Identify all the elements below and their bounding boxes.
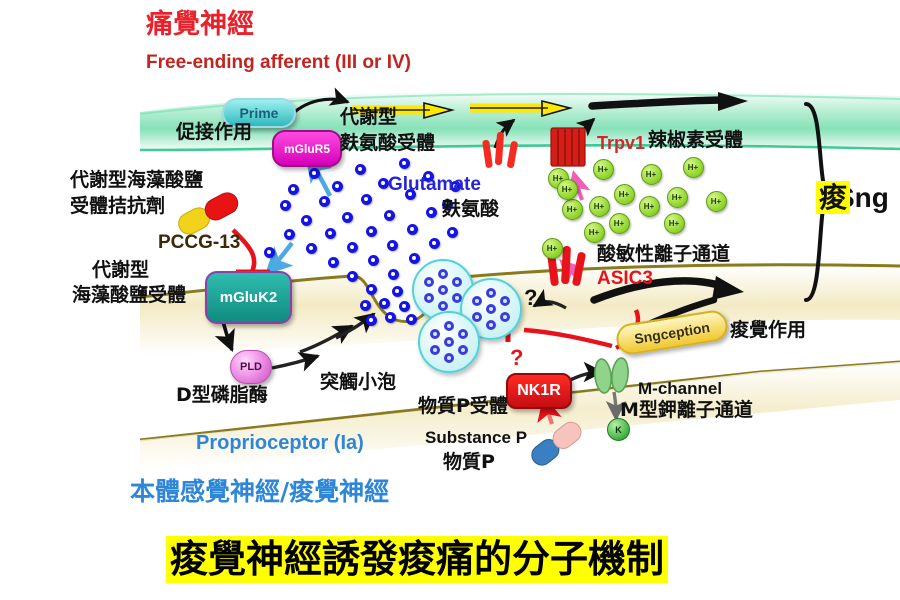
sngception-cjk-label: 痠覺作用	[730, 320, 806, 341]
vesicle-glutamate-dot	[444, 353, 454, 363]
vesicle-glutamate-dot	[430, 345, 440, 355]
glutamate-dot	[399, 301, 410, 312]
mgluk2-label: mGluK2	[220, 289, 278, 306]
vesicle-glutamate-dot	[472, 312, 482, 322]
synaptic-vesicle	[418, 311, 480, 373]
glutamate-dot	[332, 181, 343, 192]
upper-ion-channel-glyph	[482, 132, 518, 169]
hydrogen-ion: H+	[584, 222, 605, 243]
glutamate-dot	[280, 200, 291, 211]
vesicle-glutamate-dot	[452, 277, 462, 287]
hydrogen-ion-label: H+	[547, 244, 557, 253]
glutamate-dot	[429, 238, 440, 249]
vesicle-glutamate-dot	[486, 304, 496, 314]
m-channel-glyph	[593, 357, 629, 393]
sngception-inhibition	[508, 318, 612, 346]
hydrogen-ion-label: H+	[644, 202, 654, 211]
substance-p-capsule-glyph	[528, 418, 585, 469]
sng-cjk-label: 痠	[816, 181, 850, 214]
pccg13-capsule-glyph	[175, 189, 241, 238]
proprioceptor-cjk-label: 本體感覺神經/痠覺神經	[130, 478, 389, 506]
glutamate-dot	[387, 240, 398, 251]
glutamate-dot	[361, 194, 372, 205]
hydrogen-ion-label: H+	[619, 190, 629, 199]
potassium-ion-label: K	[615, 425, 622, 435]
glutamate-dot	[328, 257, 339, 268]
vesicle-glutamate-dot	[458, 329, 468, 339]
prime-cjk-label: 促接作用	[176, 122, 252, 143]
pain-nerve-title: 痛覺神經	[146, 10, 254, 40]
hydrogen-ion-label: H+	[562, 185, 572, 194]
glutamate-dot	[366, 284, 377, 295]
mglur5-receptor[interactable]: mGluR5	[272, 130, 342, 167]
hydrogen-ion-label: H+	[614, 219, 624, 228]
glutamate-dot	[378, 178, 389, 189]
vesicle-glutamate-dot	[438, 301, 448, 311]
vesicle-glutamate-dot	[438, 269, 448, 279]
vesicle-glutamate-dot	[430, 329, 440, 339]
vesicle-glutamate-dot	[486, 288, 496, 298]
hydrogen-ion: H+	[614, 184, 635, 205]
glutamate-dot	[264, 247, 275, 258]
glutamate-dot	[355, 164, 366, 175]
mglur5-label: mGluR5	[284, 142, 330, 156]
glutamate-dot	[384, 210, 395, 221]
hydrogen-ion-label: H+	[589, 228, 599, 237]
glutamate-dot	[406, 314, 417, 325]
nk1r-label: NK1R	[517, 382, 561, 400]
m-channel-en-label: M-channel	[638, 379, 722, 398]
hydrogen-ion-label: H+	[598, 165, 608, 174]
glutamate-dot	[360, 300, 371, 311]
vesicle-glutamate-dot	[500, 296, 510, 306]
vesicle-glutamate-dot	[444, 337, 454, 347]
hydrogen-ion: H+	[562, 199, 583, 220]
glutamate-dot	[366, 226, 377, 237]
antagonist-cjk-label-1: 代謝型海藻酸鹽	[70, 170, 203, 191]
glutamate-dot	[309, 168, 320, 179]
nk1r-receptor[interactable]: NK1R	[506, 373, 572, 409]
hydrogen-ion: H+	[667, 187, 688, 208]
vesicle-glutamate-dot	[458, 345, 468, 355]
glutamate-dot	[306, 243, 317, 254]
hydrogen-ion-label: H+	[669, 219, 679, 228]
pccg13-label: PCCG-13	[158, 232, 240, 253]
hydrogen-ion-label: H+	[711, 197, 721, 206]
glutamate-dot	[347, 271, 358, 282]
vesicle-glutamate-dot	[486, 320, 496, 330]
sngception-badge[interactable]: Sngception	[614, 308, 729, 356]
vesicle-glutamate-dot	[500, 312, 510, 322]
mglur5-cjk-label-2: 麩氨酸受體	[340, 133, 435, 154]
signal-arrow-chain	[352, 92, 748, 118]
nk1r-cjk-label: 物質P受體	[418, 396, 508, 417]
asic3-label: ASIC3	[597, 268, 653, 289]
pld-cjk-label: D型磷脂酶	[176, 385, 268, 406]
hydrogen-ion: H+	[639, 196, 660, 217]
antagonist-cjk-label-2: 受體拮抗劑	[70, 196, 165, 217]
glutamate-dot	[388, 269, 399, 280]
vesicle-glutamate-dot	[424, 277, 434, 287]
glutamate-dot	[399, 158, 410, 169]
hydrogen-ion: H+	[641, 164, 662, 185]
trpv1-channel-glyph	[551, 128, 585, 166]
hydrogen-ion: H+	[664, 213, 685, 234]
figure-bottom-title: 痠覺神經誘發痠痛的分子機制	[166, 536, 668, 583]
free-ending-afferent-label: Free-ending afferent (III or IV)	[146, 52, 411, 73]
vesicle-glutamate-dot	[424, 293, 434, 303]
figure-canvas: H+H+H+H+H+H+H+H+H+H+H+H+H+H+H+ Prime mGl…	[0, 0, 900, 600]
glutamate-en-label: Glutamate	[388, 174, 481, 195]
potassium-ion: K	[607, 418, 630, 441]
hydrogen-ion: H+	[542, 238, 563, 259]
vesicle-glutamate-dot	[438, 285, 448, 295]
glutamate-dot	[301, 215, 312, 226]
glutamate-dot	[284, 229, 295, 240]
glutamate-dot	[325, 228, 336, 239]
glutamate-dot	[379, 298, 390, 309]
glutamate-dot	[392, 286, 403, 297]
vesicle-glutamate-dot	[444, 321, 454, 331]
pld-enzyme[interactable]: PLD	[230, 350, 272, 384]
hydrogen-ion-label: H+	[594, 202, 604, 211]
prime-label: Prime	[240, 105, 279, 121]
question-mark-2: ?	[510, 346, 523, 371]
hydrogen-ion-label: H+	[646, 170, 656, 179]
hydrogen-ion: H+	[593, 159, 614, 180]
glutamate-cjk-label: 麩氨酸	[442, 199, 499, 220]
hydrogen-ion: H+	[609, 213, 630, 234]
glutamate-dot	[347, 242, 358, 253]
glutamate-dot	[319, 196, 330, 207]
glutamate-dot	[409, 253, 420, 264]
hydrogen-ion: H+	[557, 179, 578, 200]
mgluk2-receptor[interactable]: mGluK2	[205, 271, 292, 324]
glutamate-dot	[366, 315, 377, 326]
asic3-cjk-label: 酸敏性離子通道	[597, 244, 730, 265]
trpv1-label: Trpv1	[597, 133, 645, 153]
glutamate-dot	[426, 207, 437, 218]
question-mark-1: ?	[524, 286, 537, 311]
mglur5-cjk-label-1: 代謝型	[340, 107, 397, 128]
hydrogen-ion-label: H+	[688, 163, 698, 172]
vesicle-cjk-label: 突觸小泡	[320, 372, 396, 393]
hydrogen-ion: H+	[706, 191, 727, 212]
hydrogen-ion: H+	[683, 157, 704, 178]
glutamate-dot	[385, 312, 396, 323]
sngception-label: Sngception	[633, 319, 711, 347]
glutamate-dot	[447, 227, 458, 238]
hydrogen-ion-label: H+	[672, 193, 682, 202]
trpv1-cjk-label: 辣椒素受體	[648, 130, 743, 151]
proprioceptor-label: Proprioceptor (Ia)	[196, 432, 364, 454]
m-channel-cjk-label: M型鉀離子通道	[620, 400, 753, 421]
substance-p-en-label: Substance P	[425, 428, 527, 447]
glutamate-dot	[407, 224, 418, 235]
glutamate-dot	[342, 212, 353, 223]
mgluk2-cjk-label-2: 海藻酸鹽受體	[72, 285, 186, 306]
mgluk2-cjk-label-1: 代謝型	[92, 260, 149, 281]
hydrogen-ion-label: H+	[567, 205, 577, 214]
pld-label: PLD	[240, 361, 262, 373]
hydrogen-ion: H+	[589, 196, 610, 217]
glutamate-dot	[368, 255, 379, 266]
glutamate-dot	[288, 184, 299, 195]
substance-p-cjk-label: 物質P	[443, 452, 495, 473]
vesicle-glutamate-dot	[472, 296, 482, 306]
